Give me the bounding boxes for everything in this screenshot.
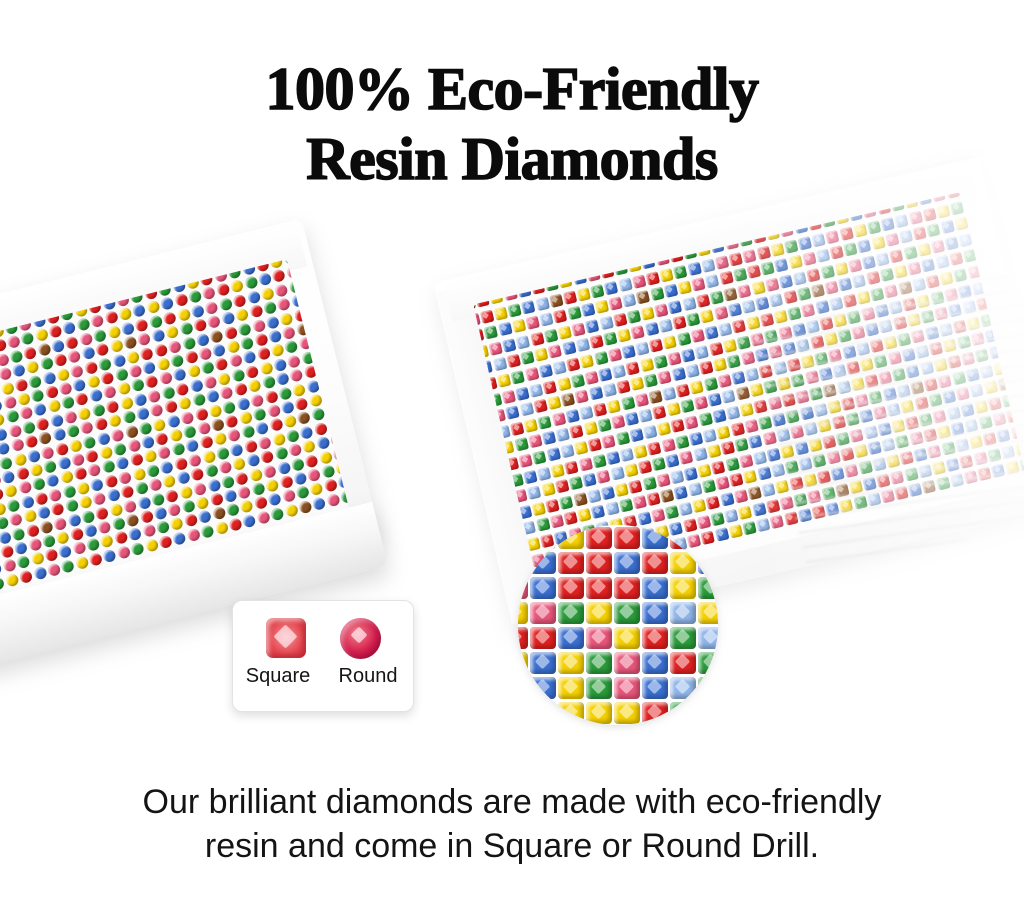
- drill: [532, 502, 546, 516]
- closeup-drill: [642, 702, 668, 724]
- bead: [314, 259, 329, 273]
- drill: [553, 309, 567, 323]
- bead: [235, 471, 250, 486]
- bead: [114, 367, 129, 382]
- bead: [298, 500, 313, 515]
- bead: [66, 424, 81, 439]
- drill: [615, 482, 629, 496]
- bead: [272, 269, 287, 284]
- bead: [51, 502, 66, 517]
- bead: [258, 436, 273, 451]
- bead: [5, 573, 20, 588]
- bead: [68, 438, 83, 453]
- bead: [76, 317, 91, 332]
- drill: [634, 444, 648, 458]
- drill: [672, 316, 686, 330]
- bead: [167, 503, 182, 518]
- drill: [577, 508, 591, 522]
- bead: [9, 512, 24, 527]
- drill: [571, 373, 585, 387]
- bead: [144, 538, 159, 553]
- bead: [39, 356, 54, 371]
- closeup-drill: [558, 527, 584, 549]
- drill: [598, 367, 612, 381]
- closeup-drill: [642, 677, 668, 699]
- bead: [244, 276, 259, 291]
- legend-label-square: Square: [241, 665, 315, 688]
- bead: [58, 381, 73, 396]
- drill: [662, 386, 676, 400]
- bead: [57, 456, 72, 471]
- bead: [255, 421, 270, 436]
- bead: [58, 545, 73, 560]
- bead: [288, 443, 303, 458]
- drill: [502, 338, 516, 352]
- bead: [203, 375, 218, 390]
- drill: [525, 367, 539, 381]
- bead: [184, 513, 199, 528]
- bead: [287, 354, 302, 369]
- drill: [637, 511, 651, 525]
- closeup-row: [518, 602, 718, 624]
- drill: [667, 351, 681, 365]
- bead: [118, 307, 133, 322]
- drill: [694, 396, 708, 410]
- bead: [6, 335, 21, 350]
- drill: [561, 393, 575, 407]
- drill: [555, 479, 569, 493]
- drill: [523, 470, 537, 484]
- drill: [601, 486, 615, 500]
- bead: [207, 315, 222, 330]
- bead: [212, 506, 227, 521]
- bead: [236, 396, 251, 411]
- drill: [643, 425, 657, 439]
- bead: [80, 420, 95, 435]
- drill: [583, 473, 597, 487]
- drill: [660, 489, 674, 503]
- drill: [552, 412, 566, 426]
- drill: [653, 406, 667, 420]
- drill: [616, 380, 630, 394]
- closeup-drill: [558, 702, 584, 724]
- bead: [254, 496, 269, 511]
- bead: [274, 283, 289, 298]
- bead: [81, 346, 96, 361]
- drill: [632, 274, 646, 288]
- bead: [217, 371, 232, 386]
- closeup-drill: [698, 577, 718, 599]
- drill: [677, 332, 691, 346]
- closeup-drill: [642, 527, 668, 549]
- bead: [89, 389, 104, 404]
- bead: [143, 449, 158, 464]
- drill: [620, 447, 634, 461]
- closeup-drill: [642, 577, 668, 599]
- bead: [313, 422, 328, 437]
- bead: [92, 492, 107, 507]
- drill: [507, 303, 521, 317]
- drill: [552, 361, 566, 375]
- bead: [76, 481, 91, 496]
- bead: [242, 514, 257, 529]
- drill: [645, 322, 659, 336]
- bead: [1, 470, 16, 485]
- bead: [124, 424, 139, 439]
- bead: [323, 478, 338, 493]
- bead: [216, 446, 231, 461]
- drill: [626, 361, 640, 375]
- bead: [142, 524, 157, 539]
- bead: [132, 467, 147, 482]
- closeup-drill: [518, 652, 528, 674]
- bead: [112, 353, 127, 368]
- bead: [345, 354, 350, 369]
- bead: [20, 495, 35, 510]
- bead: [230, 443, 245, 458]
- bead: [123, 499, 138, 514]
- drill: [666, 454, 680, 468]
- closeup-row: [518, 702, 718, 724]
- drill: [510, 421, 524, 435]
- bead: [214, 521, 229, 536]
- drill: [678, 502, 692, 516]
- drill: [602, 434, 616, 448]
- bead: [182, 336, 197, 351]
- bead: [98, 357, 113, 372]
- bead: [209, 492, 224, 507]
- drill: [515, 386, 529, 400]
- bead: [196, 332, 211, 347]
- closeup-drill: [530, 652, 556, 674]
- bead: [256, 347, 271, 362]
- bead: [3, 395, 18, 410]
- bead: [188, 453, 203, 468]
- drill: [599, 316, 613, 330]
- drill: [689, 431, 703, 445]
- drill: [551, 463, 565, 477]
- drill: [589, 386, 603, 400]
- bead: [278, 386, 293, 401]
- bead: [53, 353, 68, 368]
- bead: [94, 417, 109, 432]
- bead: [251, 482, 266, 497]
- bead: [230, 279, 245, 294]
- bead: [47, 562, 62, 577]
- bead: [5, 409, 20, 424]
- drill: [629, 428, 643, 442]
- drill: [588, 438, 602, 452]
- bead: [151, 492, 166, 507]
- drill: [520, 402, 534, 416]
- closeup-drill: [614, 677, 640, 699]
- closeup-row: [518, 552, 718, 574]
- drill: [548, 345, 562, 359]
- bead: [237, 485, 252, 500]
- bead: [34, 328, 49, 343]
- bead: [119, 396, 134, 411]
- bead: [9, 349, 24, 364]
- closeup-drill: [586, 527, 612, 549]
- bead: [104, 474, 119, 489]
- bead: [86, 374, 101, 389]
- bead: [8, 424, 23, 439]
- bead: [240, 336, 255, 351]
- bead: [0, 576, 5, 591]
- bead: [41, 445, 56, 460]
- drill: [494, 306, 508, 320]
- bead: [65, 335, 80, 350]
- drill: [654, 303, 668, 317]
- bead: [302, 439, 317, 454]
- bead: [131, 378, 146, 393]
- drill: [574, 441, 588, 455]
- bead: [237, 322, 252, 337]
- bead: [39, 520, 54, 535]
- closeup-drill: [642, 627, 668, 649]
- bead: [12, 363, 27, 378]
- bead: [213, 432, 228, 447]
- closeup-drill: [586, 577, 612, 599]
- bead: [67, 513, 82, 528]
- drill: [649, 338, 663, 352]
- bead: [61, 396, 76, 411]
- bead: [145, 375, 160, 390]
- closeup-drill: [530, 677, 556, 699]
- bead: [103, 385, 118, 400]
- bead: [195, 496, 210, 511]
- bead: [146, 463, 161, 478]
- bead: [28, 374, 43, 389]
- bead: [152, 417, 167, 432]
- closeup-drill: [698, 702, 718, 724]
- bead: [290, 457, 305, 472]
- bead: [279, 311, 294, 326]
- bead: [108, 413, 123, 428]
- drill: [591, 505, 605, 519]
- drill: [636, 290, 650, 304]
- bead: [33, 566, 48, 581]
- bead: [190, 467, 205, 482]
- drill: [484, 325, 498, 339]
- drill-type-legend: Square Round: [232, 600, 414, 712]
- bead: [106, 488, 121, 503]
- bead: [168, 339, 183, 354]
- drill: [640, 306, 654, 320]
- drill: [698, 412, 712, 426]
- bead: [179, 485, 194, 500]
- bead: [284, 340, 299, 355]
- bead: [210, 329, 225, 344]
- bead: [87, 463, 102, 478]
- closeup-drill: [518, 552, 528, 574]
- drill: [658, 370, 672, 384]
- bead: [44, 548, 59, 563]
- drill: [532, 450, 546, 464]
- drill: [664, 284, 678, 298]
- bead: [258, 272, 273, 287]
- bead: [192, 393, 207, 408]
- bead: [155, 431, 170, 446]
- bead: [19, 406, 34, 421]
- bead: [53, 516, 68, 531]
- drill: [497, 373, 511, 387]
- bead: [133, 392, 148, 407]
- bead: [265, 315, 280, 330]
- bead: [25, 523, 40, 538]
- drill: [633, 495, 647, 509]
- drill: [630, 377, 644, 391]
- bead: [170, 517, 185, 532]
- closeup-drill: [530, 702, 556, 724]
- bead: [263, 464, 278, 479]
- drill: [498, 322, 512, 336]
- closeup-drill: [530, 602, 556, 624]
- bead: [15, 466, 30, 481]
- bead: [44, 385, 59, 400]
- bead: [107, 325, 122, 340]
- drill: [534, 348, 548, 362]
- bead: [55, 442, 70, 457]
- bead: [175, 382, 190, 397]
- bead: [0, 544, 14, 559]
- bead: [194, 407, 209, 422]
- drill: [648, 390, 662, 404]
- drill: [565, 409, 579, 423]
- drill: [672, 367, 686, 381]
- drill: [538, 415, 552, 429]
- bead: [34, 491, 49, 506]
- bead: [22, 420, 37, 435]
- closeup-drill: [558, 652, 584, 674]
- bead: [261, 375, 276, 390]
- bead: [62, 484, 77, 499]
- bead: [178, 396, 193, 411]
- bead: [28, 537, 43, 552]
- drill: [557, 377, 571, 391]
- bead: [158, 534, 173, 549]
- bead: [16, 555, 31, 570]
- drill: [573, 492, 587, 506]
- bead: [293, 471, 308, 486]
- closeup-drill: [614, 627, 640, 649]
- bead: [157, 446, 172, 461]
- drill: [604, 280, 618, 294]
- bead: [296, 485, 311, 500]
- bead: [101, 460, 116, 475]
- bead: [208, 403, 223, 418]
- bead: [100, 534, 115, 549]
- drill: [493, 357, 507, 371]
- drill: [724, 508, 738, 522]
- bead: [51, 339, 66, 354]
- bead: [259, 361, 274, 376]
- caption-text: Our brilliant diamonds are made with eco…: [0, 780, 1024, 868]
- bead: [220, 386, 235, 401]
- drill: [511, 370, 525, 384]
- bead: [250, 393, 265, 408]
- bead: [272, 432, 287, 447]
- bead: [134, 481, 149, 496]
- bead: [246, 453, 261, 468]
- bead: [114, 531, 129, 546]
- bead: [0, 367, 12, 382]
- bead: [156, 520, 171, 535]
- bead: [200, 524, 215, 539]
- headline-line-1: 100% Eco-Friendly: [265, 56, 758, 122]
- bead: [221, 474, 236, 489]
- round-gem-icon: [340, 618, 381, 659]
- bead: [136, 407, 151, 422]
- bead: [77, 406, 92, 421]
- bead: [211, 418, 226, 433]
- drill: [644, 373, 658, 387]
- bead: [333, 283, 348, 298]
- drill: [665, 505, 679, 519]
- bead: [284, 503, 299, 518]
- drill: [569, 476, 583, 490]
- closeup-drill: [518, 627, 528, 649]
- bead: [126, 350, 141, 365]
- drill: [638, 460, 652, 474]
- drill: [512, 319, 526, 333]
- bead: [47, 399, 62, 414]
- drill: [530, 332, 544, 346]
- bead: [222, 400, 237, 415]
- bead: [165, 488, 180, 503]
- closeup-drill: [642, 552, 668, 574]
- bead: [30, 388, 45, 403]
- bead: [56, 367, 71, 382]
- bead: [117, 382, 132, 397]
- bead: [193, 481, 208, 496]
- drill: [539, 312, 553, 326]
- bead: [153, 506, 168, 521]
- bead: [49, 413, 64, 428]
- bead: [159, 371, 174, 386]
- drill: [584, 370, 598, 384]
- drill: [579, 405, 593, 419]
- closeup-drill: [614, 702, 640, 724]
- bead: [117, 545, 132, 560]
- drill: [566, 357, 580, 371]
- drill: [570, 425, 584, 439]
- drill: [521, 300, 535, 314]
- bead: [0, 413, 6, 428]
- bead: [239, 411, 254, 426]
- closeup-drill: [614, 602, 640, 624]
- bead: [340, 326, 350, 341]
- bead: [65, 498, 80, 513]
- bead: [326, 493, 341, 508]
- bead: [2, 559, 17, 574]
- closeup-drill: [642, 602, 668, 624]
- bead: [197, 421, 212, 436]
- drill: [529, 383, 543, 397]
- bead: [289, 368, 304, 383]
- bead: [183, 425, 198, 440]
- bead: [132, 304, 147, 319]
- closeup-drill: [586, 552, 612, 574]
- bead: [6, 498, 21, 513]
- drill: [606, 450, 620, 464]
- bead: [297, 411, 312, 426]
- bead: [89, 552, 104, 567]
- closeup-row: [518, 577, 718, 599]
- bead: [61, 559, 76, 574]
- drill: [560, 444, 574, 458]
- drill: [541, 482, 555, 496]
